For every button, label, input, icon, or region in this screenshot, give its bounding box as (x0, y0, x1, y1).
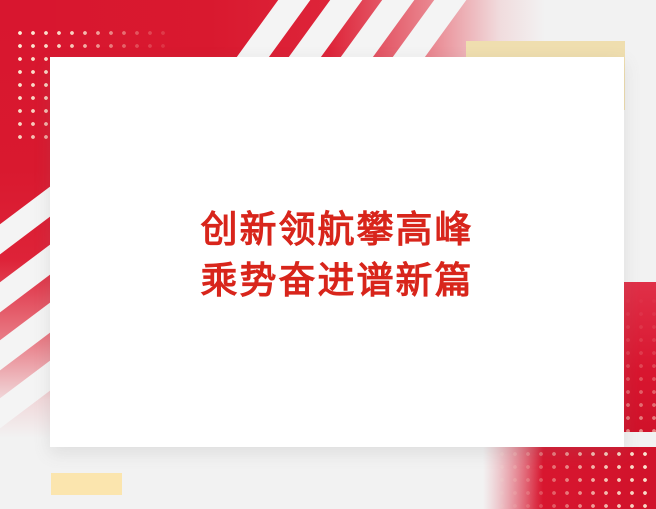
headline-block: 创新领航攀高峰 乘势奋进谱新篇 (201, 204, 474, 306)
poster-canvas: 创新领航攀高峰 乘势奋进谱新篇 (0, 0, 656, 509)
headline-line-2: 乘势奋进谱新篇 (201, 255, 474, 306)
bottom-right-dot-grid (487, 452, 656, 509)
content-card: 创新领航攀高峰 乘势奋进谱新篇 (50, 57, 624, 447)
bottom-left-gold-bar (51, 473, 122, 495)
headline-line-1: 创新领航攀高峰 (201, 204, 474, 255)
right-block-dot-grid (626, 286, 656, 436)
